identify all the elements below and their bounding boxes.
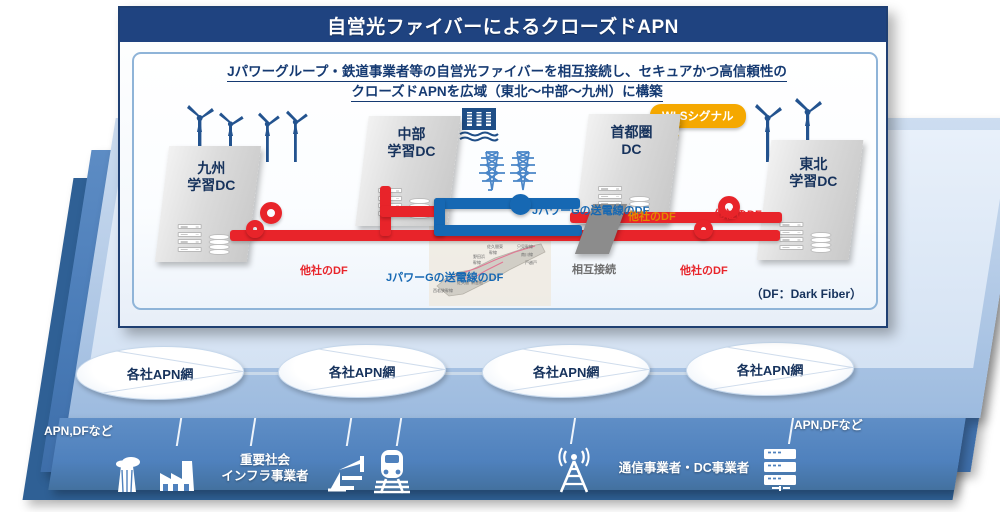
dc-kyushu-line2: 学習DC xyxy=(187,177,235,193)
fiber-red-branch-left xyxy=(380,206,440,217)
infra-operator-line2: インフラ事業者 xyxy=(221,469,308,483)
headline-line-2: クローズドAPNを広域（東北～中部～九州）に構築 xyxy=(351,82,662,102)
svg-text:佐久間東: 佐久間東 xyxy=(487,243,503,249)
radio-tower-icon xyxy=(552,446,596,494)
apn-df-label-left: APN,DFなど xyxy=(44,422,113,439)
apn-link-3-4 xyxy=(644,372,688,375)
server-icon xyxy=(779,222,803,252)
hydro-dam-icon xyxy=(456,102,502,148)
apn-cloud-label: 各社APN網 xyxy=(127,364,193,383)
dc-chubu-line2: 学習DC xyxy=(387,143,435,159)
svg-text:幹線: 幹線 xyxy=(489,249,497,255)
dc-kyushu: 九州 学習DC xyxy=(155,146,261,262)
apn-link-2-3 xyxy=(440,372,484,375)
apn-cloud-label: 各社APN網 xyxy=(329,362,395,381)
label-jpower-df-bottom: JパワーGの送電線のDF xyxy=(386,269,503,285)
apn-cloud-label: 各社APN網 xyxy=(737,360,803,379)
svg-text:野田浜: 野田浜 xyxy=(473,253,485,259)
apn-cloud-label: 各社APN網 xyxy=(533,362,599,381)
panel-title: 自営光ファイバーによるクローズドAPN xyxy=(120,8,886,42)
svg-text:西若狭幹線: 西若狭幹線 xyxy=(433,287,453,293)
database-icon xyxy=(810,232,831,252)
label-other-df-right-bottom: 他社のDF xyxy=(680,262,728,278)
dark-fiber-note: （DF：Dark Fiber） xyxy=(751,285,862,302)
svg-text:南川線: 南川線 xyxy=(521,251,533,257)
server-rack-icon xyxy=(760,446,800,494)
fiber-blue-lower xyxy=(434,225,582,236)
database-icon xyxy=(209,234,230,254)
transmission-tower-icon xyxy=(478,146,540,192)
connector-ring-blue xyxy=(510,194,531,215)
label-other-df-mid-top: 他社のDF xyxy=(628,208,676,224)
power-plant-icon xyxy=(104,448,150,494)
diagram-canvas: 各社APN網 各社APN網 各社APN網 各社APN網 APN,DFなど APN… xyxy=(0,0,1000,512)
apn-df-label-right: APN,DFなど xyxy=(794,416,863,433)
label-interconnect: 相互接続 xyxy=(572,261,616,277)
dc-tohoku: 東北 学習DC xyxy=(757,140,864,260)
svg-text:只見幹線: 只見幹線 xyxy=(517,243,533,249)
svg-text:戸越戸: 戸越戸 xyxy=(525,259,537,265)
train-icon xyxy=(372,446,412,494)
connector-ring-tohoku-lower xyxy=(694,220,713,239)
factory-icon xyxy=(156,455,200,493)
connector-ring-kyushu-lower xyxy=(246,220,264,238)
dc-kyushu-line1: 九州 xyxy=(197,160,225,176)
panel-inner: Jパワーグループ・鉄道事業者等の自営光ファイバーを相互接続し、セキュアかつ高信頼… xyxy=(132,52,878,310)
label-other-df-right-top: 他社のDF xyxy=(714,206,762,222)
main-panel: 自営光ファイバーによるクローズドAPN Jパワーグループ・鉄道事業者等の自営光フ… xyxy=(118,6,888,328)
svg-text:幹線: 幹線 xyxy=(473,259,481,265)
dc-tohoku-line1: 東北 xyxy=(799,156,827,172)
oil-pump-icon xyxy=(326,450,372,492)
infra-operator-label: 重要社会 インフラ事業者 xyxy=(210,452,320,484)
dc-shutoken-line2: DC xyxy=(621,141,641,157)
dc-tohoku-line2: 学習DC xyxy=(789,173,837,189)
dc-shutoken-line1: 首都圏 xyxy=(610,124,652,140)
label-other-df-left: 他社のDF xyxy=(300,262,348,278)
wind-turbine-left-2-icon xyxy=(254,106,316,164)
headline-line-1: Jパワーグループ・鉄道事業者等の自営光ファイバーを相互接続し、セキュアかつ高信頼… xyxy=(227,62,787,82)
dc-chubu-line1: 中部 xyxy=(397,126,425,142)
connector-ring-kyushu-upper xyxy=(260,202,282,224)
server-icon xyxy=(178,224,202,254)
telecom-operator-label: 通信事業者・DC事業者 xyxy=(600,460,768,476)
infra-operator-line1: 重要社会 xyxy=(240,453,290,467)
